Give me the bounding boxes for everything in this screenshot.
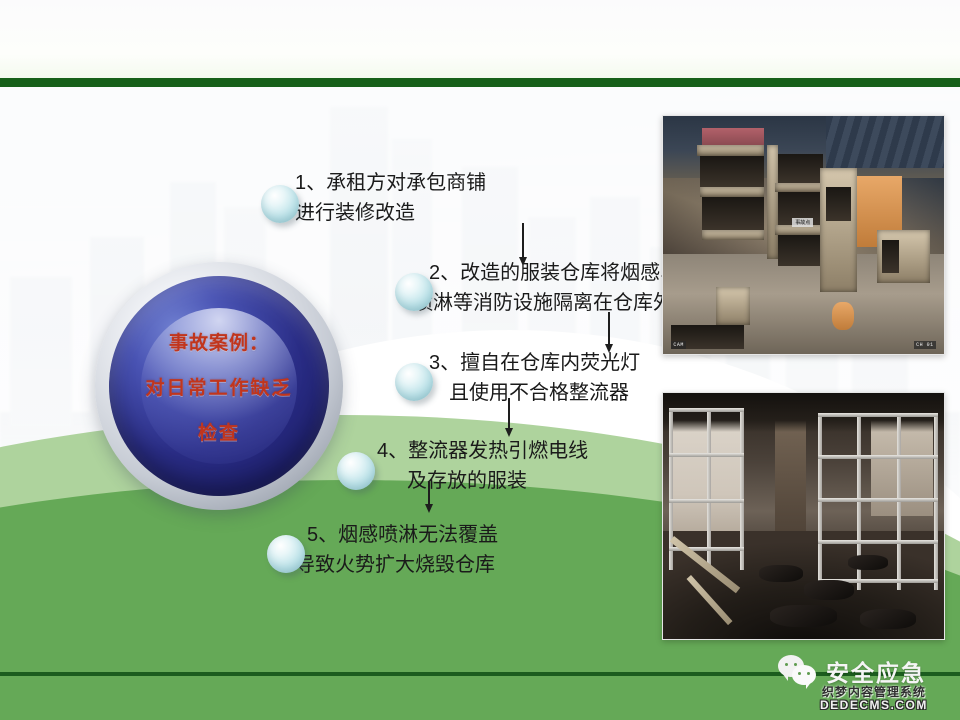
bullet-sphere-icon: [337, 452, 375, 490]
watermark: 织梦内容管理系统 DEDECMS.COM: [820, 686, 928, 711]
step-2-line-2: 喷淋等消防设施隔离在仓库外: [413, 288, 680, 318]
sphere-title-text: 事故案例： 对日常工作缺乏 检查: [95, 262, 343, 510]
step-1-line-1: 1、承租方对承包商铺: [295, 168, 486, 198]
box-on-floor: [716, 287, 750, 325]
list-item-step-2: 2、改造的服装仓库将烟感、 喷淋等消防设施隔离在仓库外: [333, 258, 680, 318]
surveillance-scene: CAM CH 01 事故点: [663, 116, 944, 354]
watermark-line-2: DEDECMS.COM: [820, 699, 928, 712]
burnt-debris: [770, 605, 837, 627]
shelf-shadow: [702, 197, 764, 230]
camera-overlay-label: 事故点: [792, 218, 813, 227]
photo-surveillance-still-warehouse: CAM CH 01 事故点: [662, 115, 945, 355]
slide-canvas: 事故案例： 对日常工作缺乏 检查 1、承租方对承包商铺 进行装修改造 2、改造的…: [0, 0, 960, 720]
step-4-line-2: 及存放的服装: [407, 466, 588, 496]
doorway-shadow: [826, 187, 851, 220]
cabinet-shadow: [882, 240, 899, 273]
step-1-line-2: 进行装修改造: [295, 198, 486, 228]
burnt-debris: [759, 565, 804, 582]
step-2-text: 2、改造的服装仓库将烟感、 喷淋等消防设施隔离在仓库外: [333, 258, 680, 318]
sphere-title-line-2: 对日常工作缺乏: [145, 373, 292, 400]
shelf-shadow: [778, 154, 823, 183]
step-4-line-1: 4、整流器发热引燃电线: [377, 436, 588, 466]
step-3-text: 3、擅自在仓库内荧光灯 且使用不合格整流器: [333, 348, 640, 408]
shelf-shadow: [778, 235, 826, 266]
bullet-sphere-icon: [261, 185, 299, 223]
down-arrow-icon: [425, 482, 433, 514]
wechat-icon: [778, 655, 818, 687]
header-green-rule: [0, 78, 960, 87]
list-item-step-4: 4、整流器发热引燃电线 及存放的服装: [317, 436, 588, 496]
watermark-line-1: 织梦内容管理系统: [820, 686, 928, 699]
down-arrow-icon: [605, 312, 613, 354]
list-item-step-5: 5、烟感喷淋无法覆盖 导致火势扩大烧毁仓库: [255, 520, 498, 580]
step-3-line-2: 且使用不合格整流器: [449, 378, 640, 408]
bullet-sphere-icon: [267, 535, 305, 573]
step-5-line-2: 导致火势扩大烧毁仓库: [295, 550, 498, 580]
photo-fire-damaged-warehouse-interior: [662, 392, 945, 640]
sphere-title-line-1: 事故案例：: [169, 328, 269, 355]
camera-tag-left: CAM: [671, 341, 686, 349]
bullet-sphere-icon: [395, 273, 433, 311]
shelf-beam: [700, 187, 765, 197]
burnt-debris: [804, 580, 855, 600]
shelf-shadow: [700, 156, 765, 187]
burnt-debris: [860, 609, 916, 629]
brand-logo: 安全应急: [778, 654, 926, 688]
list-item-step-3: 3、擅自在仓库内荧光灯 且使用不合格整流器: [333, 348, 640, 408]
burnt-debris: [848, 555, 887, 570]
brand-logo-label: 安全应急: [826, 654, 926, 688]
step-2-line-1: 2、改造的服装仓库将烟感、: [429, 258, 680, 288]
debris-lit: [832, 302, 854, 331]
camera-tag-right: CH 01: [914, 341, 936, 349]
bullet-sphere-icon: [395, 363, 433, 401]
ceiling-panels: [826, 116, 944, 168]
step-5-line-1: 5、烟感喷淋无法覆盖: [307, 520, 498, 550]
list-item-step-1: 1、承租方对承包商铺 进行装修改造: [255, 168, 486, 228]
down-arrow-icon: [505, 398, 513, 438]
burnt-scene: [663, 393, 944, 639]
case-title-sphere: 事故案例： 对日常工作缺乏 检查: [95, 262, 343, 510]
sphere-title-line-3: 检查: [198, 418, 240, 445]
down-arrow-icon: [519, 223, 527, 267]
shelf-post: [767, 145, 778, 259]
shelf-beam: [702, 230, 764, 240]
header-white-strip: [0, 0, 960, 78]
shelf-beam: [775, 183, 826, 193]
shelf-beam: [697, 145, 764, 157]
